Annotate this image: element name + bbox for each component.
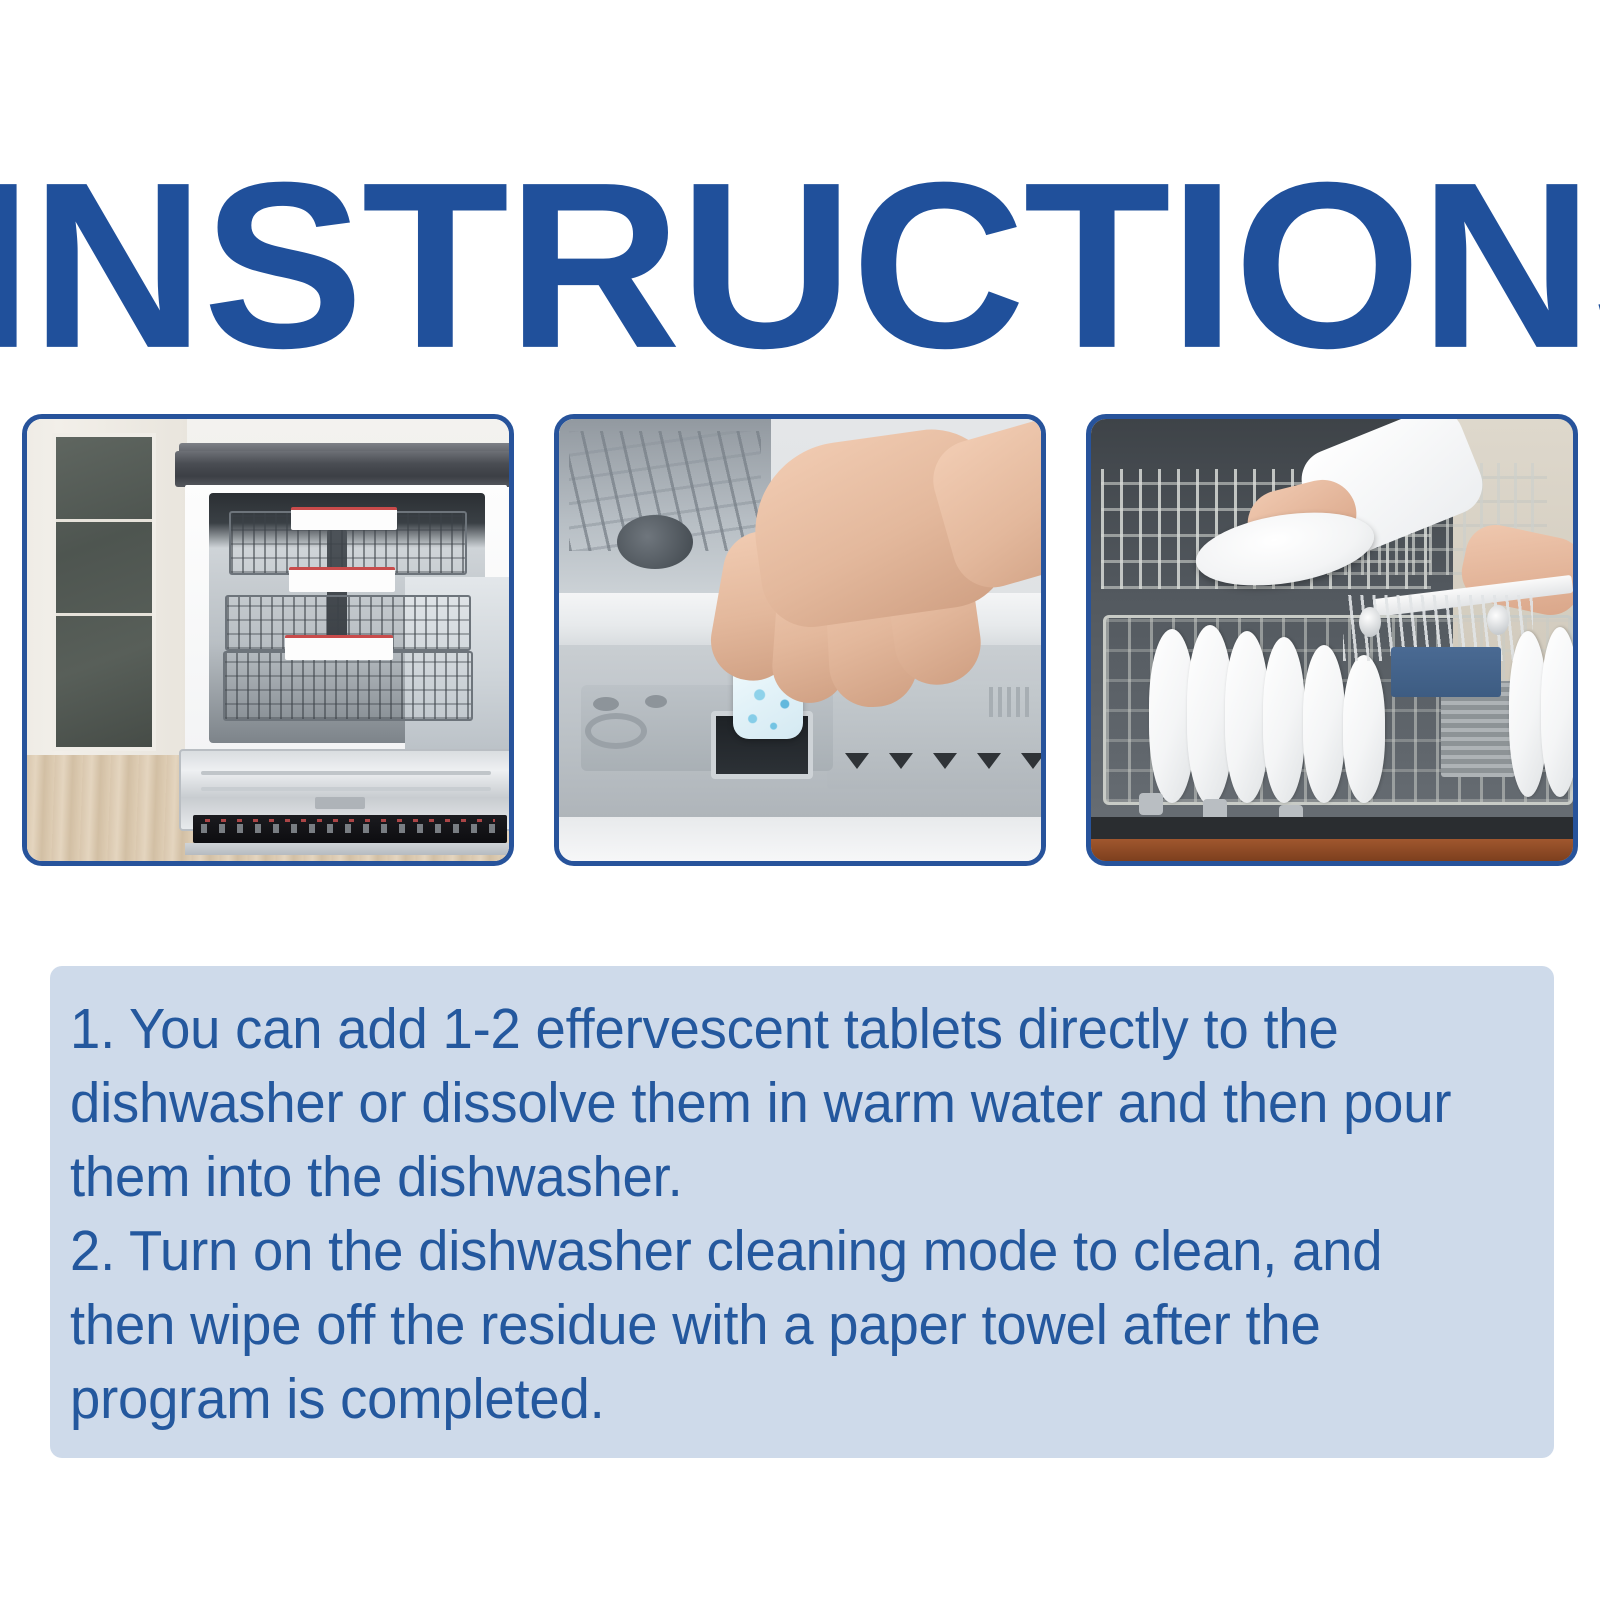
photo-panel-open-dishwasher	[22, 414, 514, 866]
door-ridge-1	[201, 771, 491, 775]
page-title-wrapper: INSTRUCTIONS	[0, 148, 1600, 380]
spoon	[1359, 607, 1381, 637]
rack-label-top	[291, 507, 397, 530]
dispenser-vent-hole	[645, 695, 667, 708]
tablet-insert-illustration	[559, 419, 1041, 861]
door-bottom-edge	[559, 817, 1041, 861]
dispenser-cap-ring	[585, 713, 647, 749]
plate	[1303, 645, 1345, 803]
spray-arm-hub	[617, 515, 693, 569]
rack-label-middle	[289, 567, 395, 592]
door-ridge-2	[201, 787, 491, 791]
wood-floor	[1091, 839, 1573, 861]
countertop	[175, 451, 509, 487]
vent-triangle	[933, 753, 957, 769]
dispenser-comb-grille	[989, 687, 1031, 717]
rack-label-bottom	[285, 635, 393, 660]
spoon	[1487, 605, 1509, 635]
cutlery-basket	[1391, 647, 1501, 697]
rack-wheel	[1139, 793, 1163, 815]
vent-triangle-row	[845, 749, 1041, 783]
page-title: INSTRUCTIONS	[0, 148, 1600, 385]
kitchen-cabinet	[27, 419, 187, 767]
dishwasher-plinth	[185, 843, 509, 855]
instructions-box: 1. You can add 1-2 effervescent tablets …	[50, 966, 1554, 1458]
vent-triangle	[889, 753, 913, 769]
image-panel-row	[22, 414, 1578, 866]
photo-panel-tablet-insert	[554, 414, 1046, 866]
plate	[1541, 627, 1573, 797]
vent-triangle	[1021, 753, 1041, 769]
instructions-text: 1. You can add 1-2 effervescent tablets …	[70, 992, 1468, 1436]
control-panel-button-row	[201, 824, 499, 833]
vent-triangle	[977, 753, 1001, 769]
door-latch	[315, 797, 365, 809]
control-panel-indicator-row	[205, 819, 495, 822]
cabinet-glass-door	[52, 433, 156, 751]
dishwasher-bottom	[1091, 817, 1573, 839]
photo-panel-loading-dishes	[1086, 414, 1578, 866]
vent-triangle	[845, 753, 869, 769]
rinse-aid-port	[593, 697, 619, 711]
plate	[1343, 655, 1385, 803]
lower-rack	[223, 651, 473, 721]
plate	[1263, 637, 1305, 803]
open-dishwasher-illustration	[27, 419, 509, 861]
dishwasher-control-panel	[193, 815, 507, 843]
loading-dishes-illustration	[1091, 419, 1573, 861]
